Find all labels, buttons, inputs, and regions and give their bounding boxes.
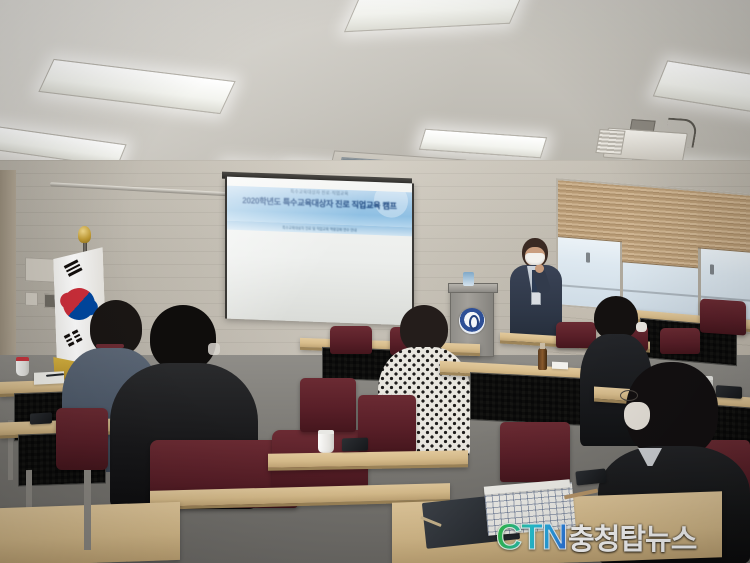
chair-row2-a (300, 378, 356, 432)
window-blinds-lowered[interactable] (622, 185, 698, 268)
attendee-4-face-mask (636, 322, 647, 332)
presenter-face-mask (525, 253, 545, 265)
attendee-5-glasses-icon (620, 390, 638, 401)
presenter-id-badge (531, 292, 541, 305)
seminar-room-photo: 특수교육대상자 진로·직업교육 2020학년도 특수교육대상자 진로 직업교육 … (0, 0, 750, 563)
smartphone-left (30, 412, 52, 424)
presenter-hand (535, 264, 544, 273)
chair-row1-a (330, 326, 372, 354)
light-switch[interactable] (25, 292, 38, 307)
window-handle-2[interactable] (710, 264, 714, 274)
small-paper (552, 362, 568, 370)
attendee-5-face-mask (624, 402, 650, 430)
projection-screen: 특수교육대상자 진로·직업교육 2020학년도 특수교육대상자 진로 직업교육 … (225, 177, 414, 326)
smartphone-center (342, 438, 368, 452)
door-frame (0, 170, 16, 380)
attendee-3-hair (400, 305, 448, 353)
desk-row3-center (268, 450, 468, 470)
chair-back-right (700, 298, 746, 335)
attendee-2-hair (150, 305, 216, 371)
window-handle-1[interactable] (586, 252, 590, 262)
coffee-cup-red (16, 357, 29, 376)
attendee-2-face-mask (208, 343, 220, 355)
water-bottle (463, 272, 474, 286)
drink-bottle (538, 348, 547, 370)
chair-row1-e (660, 328, 700, 354)
chair-right-a (500, 422, 570, 482)
coffee-cup-white (318, 430, 334, 453)
projector-vent (595, 129, 625, 155)
desk-panel-row2-right (470, 372, 582, 426)
chair-attendee-1 (56, 408, 108, 470)
desk-leg-foreground (84, 470, 91, 550)
flag-finial-icon (78, 226, 91, 243)
wall-notice-plate (25, 257, 57, 283)
ceiling-projector (594, 117, 687, 165)
